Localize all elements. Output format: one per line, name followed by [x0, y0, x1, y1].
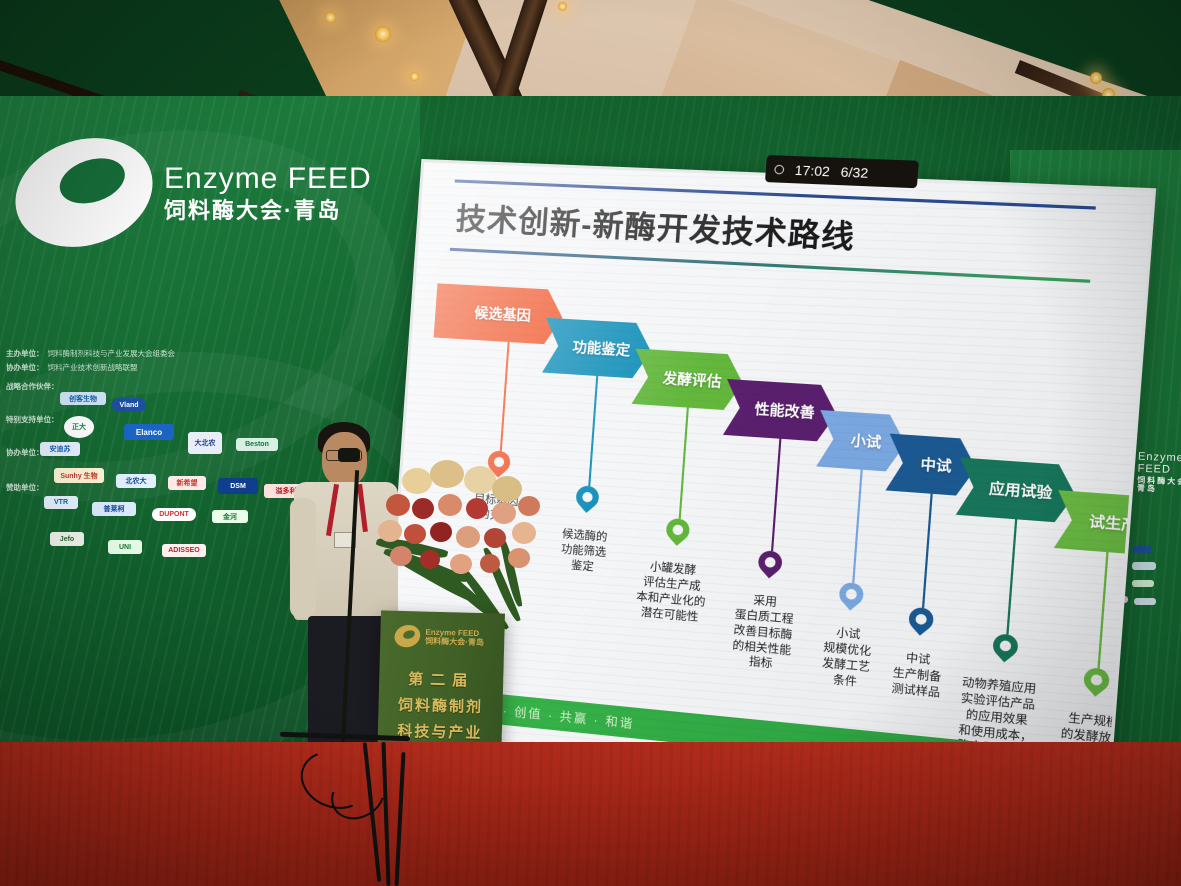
map-pin-icon-3 — [665, 518, 690, 551]
flower — [450, 554, 472, 574]
map-pin-icon-2 — [575, 485, 600, 517]
connector-stem — [1097, 552, 1108, 668]
podium-line-2: 饲料酶制剂 — [378, 693, 503, 717]
sponsor-logo: 安迪苏 — [40, 442, 80, 456]
podium-logo: Enzyme FEED 饲料酶大会·青岛 — [394, 621, 487, 653]
slide-title: 技术创新-新酶开发技术路线 — [455, 194, 857, 258]
ceiling-downlight — [410, 72, 419, 81]
sponsor-label: 协办单位： — [6, 447, 44, 458]
ceiling-downlight — [325, 12, 336, 23]
connector-stem — [922, 494, 932, 608]
carpet-texture — [0, 742, 1181, 886]
map-pin-icon-8 — [1082, 667, 1110, 702]
chevron-label: 候选基因 — [474, 303, 532, 326]
map-pin-icon-5 — [838, 582, 864, 615]
chevron-label: 小试 — [850, 430, 882, 453]
sponsor-line: 协办单位： 饲料产业技术创新战略联盟 — [6, 362, 256, 373]
conference-stage-scene: Enzyme FEED 饲料酶大会·青岛 主办单位： 饲料酶制剂科技与产业发展大… — [0, 0, 1181, 886]
banner-left-logo-cn: 饲料酶大会·青岛 — [164, 199, 372, 222]
sponsor-line: 主办单位： 饲料酶制剂科技与产业发展大会组委会 — [6, 348, 256, 359]
chevron-label: 性能改善 — [754, 398, 816, 423]
banner-right-logo-en: Enzyme FEED — [1137, 452, 1181, 477]
sponsor-logo: Beston — [236, 438, 278, 451]
banner-right-logo-text: Enzyme FEED 饲料酶大会·青岛 — [1137, 452, 1181, 496]
chevron-label: 应用试验 — [988, 478, 1053, 504]
chevron-label: 发酵评估 — [662, 368, 722, 392]
map-pin-icon-4 — [757, 550, 783, 583]
sponsor-logo-grid: 创客生物 Vland 正大 Elanco 大北农 Beston 安迪苏 Sunh… — [40, 392, 310, 592]
sponsor-logo: Vland — [112, 398, 146, 412]
chevron-step-1: 候选基因 — [434, 283, 565, 345]
sponsor-logo — [1132, 562, 1156, 570]
map-pin-icon-7 — [992, 633, 1019, 667]
ceiling-downlight — [1090, 72, 1102, 84]
ceiling-downlight — [375, 26, 391, 42]
enzyme-ring-icon — [1, 121, 167, 264]
sponsor-logo: 普莱柯 — [92, 502, 136, 516]
step-desc-4: 采用 蛋白质工程 改善目标酶 的相关性能 指标 — [719, 591, 808, 675]
flower — [508, 548, 530, 568]
sponsor-value: 饲料产业技术创新战略联盟 — [48, 362, 138, 373]
sponsor-logo: VTR — [44, 496, 78, 509]
connector-stem — [1006, 519, 1016, 634]
flower — [480, 554, 500, 573]
osd-time: 17:02 — [794, 162, 830, 179]
flower — [518, 496, 540, 516]
flower — [386, 494, 410, 516]
sponsor-logo: Sunhy 生物 — [54, 468, 104, 483]
connector-stem — [852, 470, 862, 583]
flower — [412, 498, 434, 519]
flower — [492, 476, 522, 502]
sponsor-logo — [1132, 546, 1152, 553]
osd-page: 6/32 — [840, 164, 869, 181]
sponsor-logo: 创客生物 — [60, 392, 106, 405]
banner-left-logo-text: Enzyme FEED 饲料酶大会·青岛 — [164, 163, 372, 222]
ceiling-downlight — [558, 2, 567, 11]
enzyme-ring-icon — [392, 622, 423, 650]
step-desc-6: 中试 生产制备 测试样品 — [872, 648, 962, 703]
banner-left-logo: Enzyme FEED 饲料酶大会·青岛 — [14, 140, 372, 245]
banner-right-logo-cn: 饲料酶大会·青岛 — [1137, 477, 1181, 496]
podium-line-1: 第二届 — [379, 667, 504, 691]
chevron-label: 功能鉴定 — [572, 337, 631, 361]
sponsor-label: 主办单位： — [6, 348, 44, 359]
chevron-label: 中试 — [920, 454, 953, 477]
flower — [512, 522, 536, 544]
sponsor-logo: Jefo — [50, 532, 84, 546]
sponsor-label: 协办单位： — [6, 362, 44, 373]
flower — [466, 498, 488, 519]
flower — [420, 550, 440, 569]
podium-logo-cn: 饲料酶大会·青岛 — [425, 637, 484, 648]
sponsor-label: 战略合作伙伴： — [6, 381, 59, 392]
sponsor-logo: UNI — [108, 540, 142, 554]
sponsor-logo: 大北农 — [188, 432, 222, 454]
sponsor-logo: Elanco — [124, 424, 174, 440]
sponsor-logo: 北农大 — [116, 474, 156, 488]
sponsor-line: 战略合作伙伴： — [6, 381, 256, 392]
podium-logo-text: Enzyme FEED 饲料酶大会·青岛 — [425, 627, 484, 647]
map-pin-icon-6 — [907, 607, 934, 641]
sponsor-logo: ADISSEO — [162, 544, 206, 557]
flower — [430, 460, 464, 488]
chevron-step-2: 功能鉴定 — [542, 318, 653, 380]
step-desc-3: 小罐发酵 评估生产成 本和产业化的 潜在可能性 — [628, 558, 714, 626]
sponsor-logo: 正大 — [64, 416, 94, 438]
flower — [378, 520, 402, 542]
microphone-head — [338, 448, 360, 462]
flower — [430, 522, 452, 542]
enzyme-ring-cutout — [54, 151, 131, 212]
record-dot-icon — [774, 164, 784, 174]
sponsor-logo: 金河 — [212, 510, 248, 523]
sponsor-logo: 新希望 — [168, 476, 206, 490]
stage-floor — [0, 742, 1181, 886]
flower — [402, 468, 432, 494]
speaker-arm-left — [290, 498, 316, 618]
flower — [484, 528, 506, 548]
sponsor-value: 饲料酶制剂科技与产业发展大会组委会 — [48, 348, 176, 359]
flower — [456, 526, 480, 548]
sponsor-logo: DUPONT — [152, 508, 196, 521]
sponsor-logo — [1132, 580, 1154, 587]
step-desc-2: 候选酶的 功能筛选 鉴定 — [542, 526, 625, 578]
flower — [438, 494, 462, 516]
sponsor-label: 赞助单位： — [6, 482, 44, 493]
flower — [492, 502, 516, 524]
flower — [404, 524, 426, 544]
flower — [390, 546, 412, 566]
banner-left-logo-en: Enzyme FEED — [164, 163, 372, 195]
sponsor-logo — [1134, 598, 1156, 605]
sponsor-logo: DSM — [218, 478, 258, 494]
